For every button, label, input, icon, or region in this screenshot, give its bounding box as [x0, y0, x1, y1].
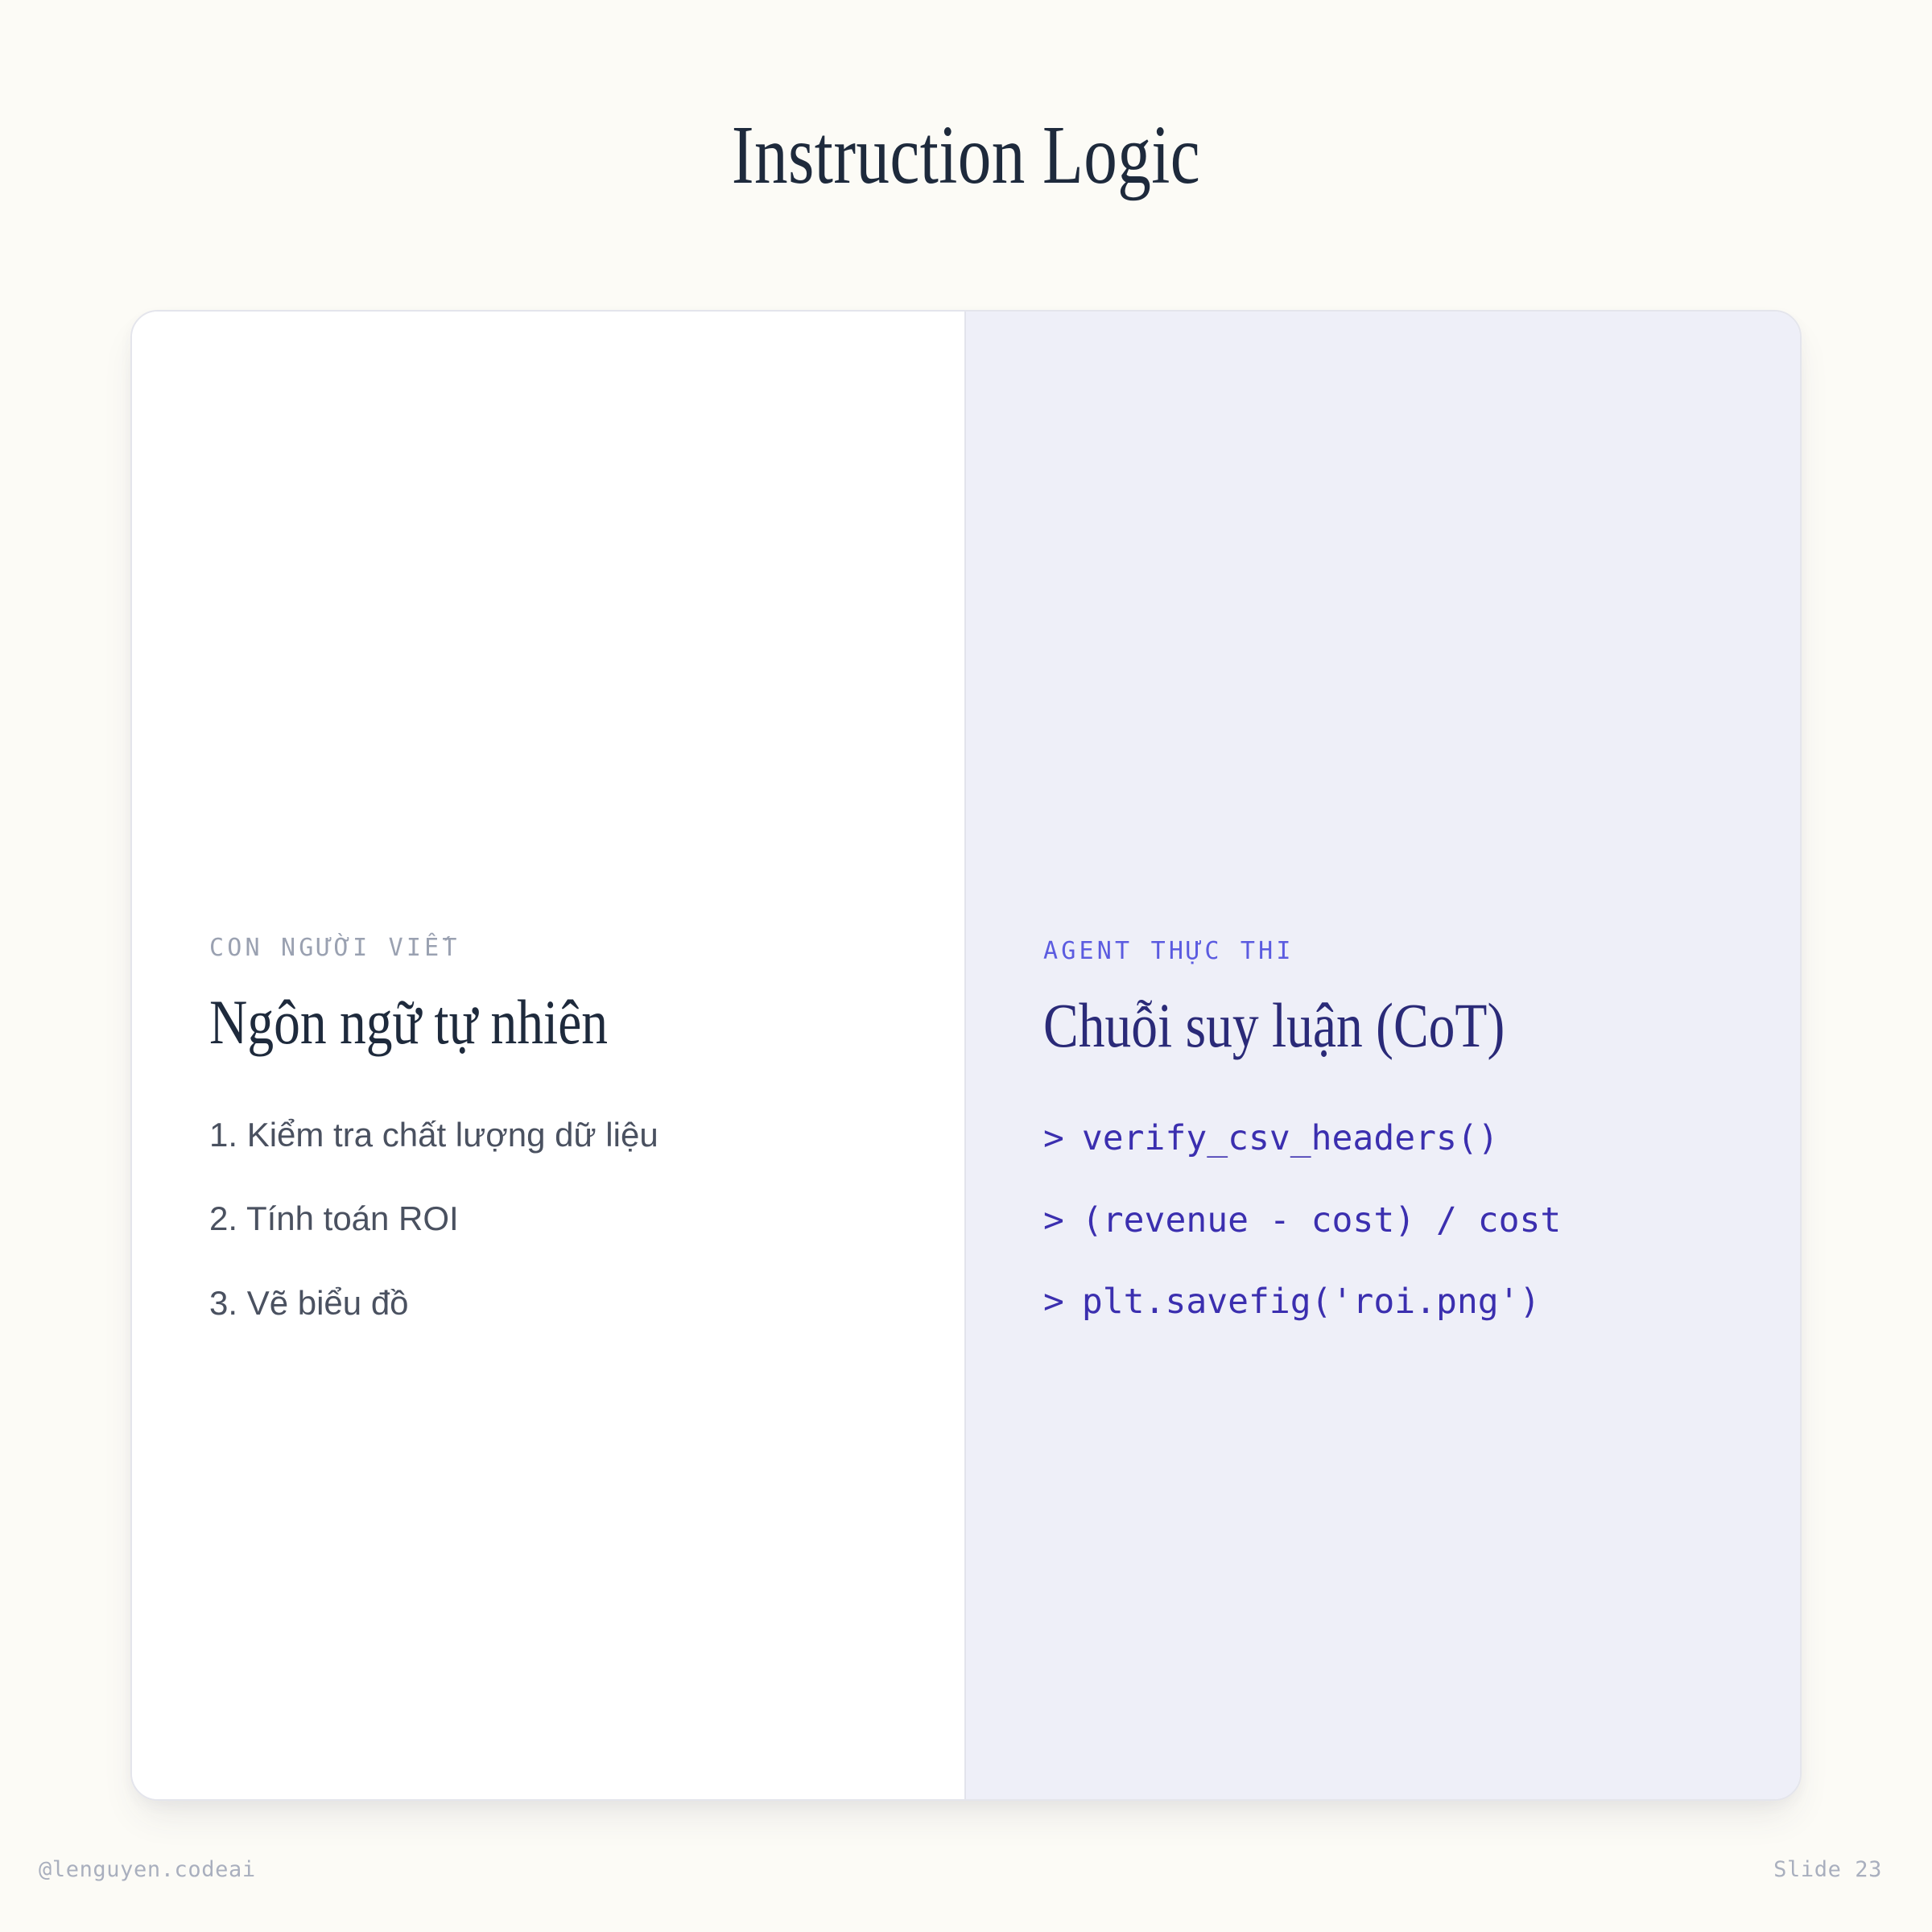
human-panel: CON NGƯỜI VIẾT Ngôn ngữ tự nhiên 1. Kiểm… — [132, 312, 966, 1799]
list-item: 2. Tính toán ROI — [209, 1198, 887, 1241]
comparison-card: CON NGƯỜI VIẾT Ngôn ngữ tự nhiên 1. Kiểm… — [130, 310, 1802, 1801]
code-line-text: (revenue - cost) / cost — [1082, 1200, 1561, 1241]
agent-code-list: >verify_csv_headers() >(revenue - cost) … — [1043, 1117, 1723, 1324]
human-panel-eyebrow: CON NGƯỜI VIẾT — [209, 934, 887, 963]
human-panel-heading: Ngôn ngữ tự nhiên — [209, 987, 778, 1057]
code-line-text: verify_csv_headers() — [1082, 1118, 1499, 1158]
footer-handle: @lenguyen.codeai — [39, 1857, 256, 1882]
list-item: 3. Vẽ biểu đồ — [209, 1282, 887, 1325]
agent-panel: AGENT THỰC THI Chuỗi suy luận (CoT) >ver… — [966, 312, 1800, 1799]
chevron-right-icon: > — [1043, 1118, 1064, 1158]
code-line-text: plt.savefig('roi.png') — [1082, 1282, 1541, 1322]
page-title: Instruction Logic — [193, 106, 1739, 205]
list-item: >verify_csv_headers() — [1043, 1117, 1723, 1161]
agent-panel-heading: Chuỗi suy luận (CoT) — [1043, 990, 1614, 1060]
list-item: 1. Kiểm tra chất lượng dữ liệu — [209, 1114, 887, 1157]
agent-panel-eyebrow: AGENT THỰC THI — [1043, 937, 1723, 966]
chevron-right-icon: > — [1043, 1200, 1064, 1241]
footer-slide-number: Slide 23 — [1773, 1857, 1882, 1882]
list-item: >plt.savefig('roi.png') — [1043, 1281, 1723, 1324]
human-step-list: 1. Kiểm tra chất lượng dữ liệu 2. Tính t… — [209, 1114, 887, 1325]
list-item: >(revenue - cost) / cost — [1043, 1199, 1723, 1243]
chevron-right-icon: > — [1043, 1282, 1064, 1322]
